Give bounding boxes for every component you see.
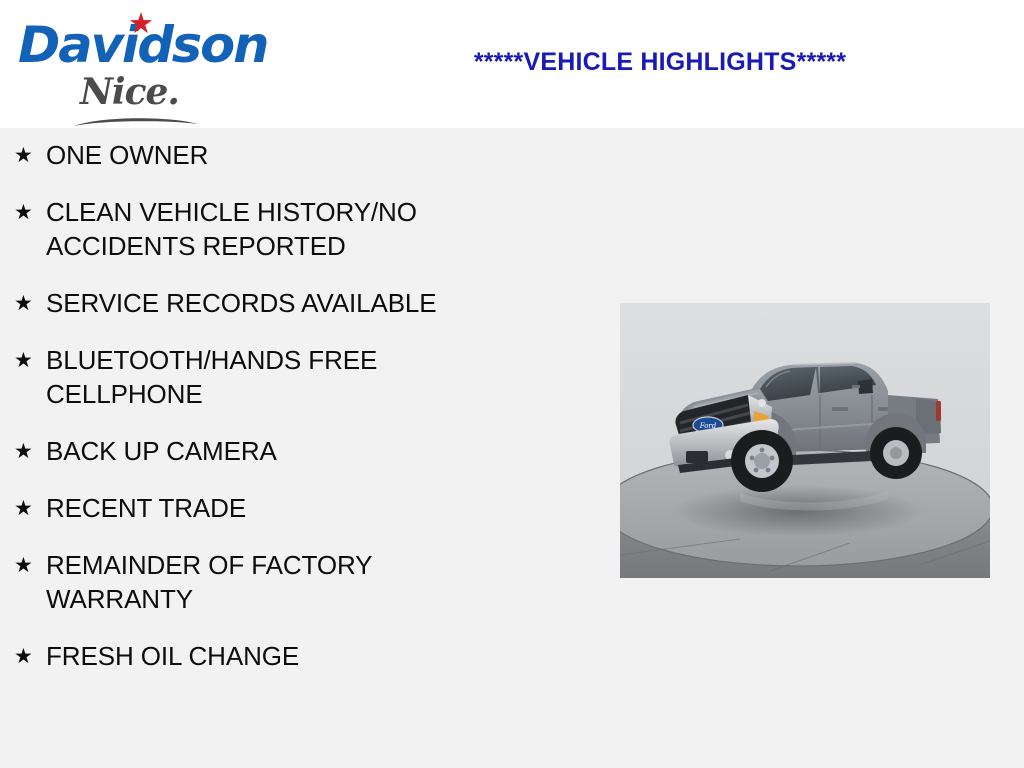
vehicle-photo-illustration: Ford: [620, 303, 990, 578]
list-item: ★ BACK UP CAMERA: [0, 434, 560, 468]
list-item-label: ONE OWNER: [46, 138, 491, 172]
list-item: ★ BLUETOOTH/HANDS FREE CELLPHONE: [0, 343, 560, 411]
star-bullet-icon: ★: [14, 195, 46, 229]
logo-script-text: Nice.: [80, 74, 179, 110]
list-item: ★ ONE OWNER: [0, 138, 560, 172]
list-item-label: RECENT TRADE: [46, 491, 491, 525]
star-bullet-icon: ★: [14, 138, 46, 172]
star-bullet-icon: ★: [14, 491, 46, 525]
list-item: ★ CLEAN VEHICLE HISTORY/NO ACCIDENTS REP…: [0, 195, 560, 263]
list-item-label: BLUETOOTH/HANDS FREE CELLPHONE: [46, 343, 491, 411]
dealer-logo[interactable]: Davidson ★ Nice.: [10, 6, 270, 124]
vehicle-highlights-list: ★ ONE OWNER ★ CLEAN VEHICLE HISTORY/NO A…: [0, 138, 560, 696]
list-item-label: REMAINDER OF FACTORY WARRANTY: [46, 548, 491, 616]
list-item: ★ FRESH OIL CHANGE: [0, 639, 560, 673]
page-header: Davidson ★ Nice. *****VEHICLE HIGHLIGHTS…: [0, 0, 1024, 128]
page-title: *****VEHICLE HIGHLIGHTS*****: [300, 48, 1020, 77]
list-item: ★ SERVICE RECORDS AVAILABLE: [0, 286, 560, 320]
vehicle-photo[interactable]: Ford: [620, 303, 990, 578]
star-bullet-icon: ★: [14, 639, 46, 673]
star-bullet-icon: ★: [14, 434, 46, 468]
star-bullet-icon: ★: [14, 286, 46, 320]
list-item-label: CLEAN VEHICLE HISTORY/NO ACCIDENTS REPOR…: [46, 195, 491, 263]
page-content: ★ ONE OWNER ★ CLEAN VEHICLE HISTORY/NO A…: [0, 128, 1024, 768]
list-item: ★ RECENT TRADE: [0, 491, 560, 525]
star-bullet-icon: ★: [14, 548, 46, 582]
list-item-label: SERVICE RECORDS AVAILABLE: [46, 286, 491, 320]
star-bullet-icon: ★: [14, 343, 46, 377]
logo-swoosh-underline: [72, 114, 200, 128]
logo-star-icon: ★: [128, 10, 154, 39]
list-item-label: FRESH OIL CHANGE: [46, 639, 491, 673]
list-item: ★ REMAINDER OF FACTORY WARRANTY: [0, 548, 560, 616]
list-item-label: BACK UP CAMERA: [46, 434, 491, 468]
